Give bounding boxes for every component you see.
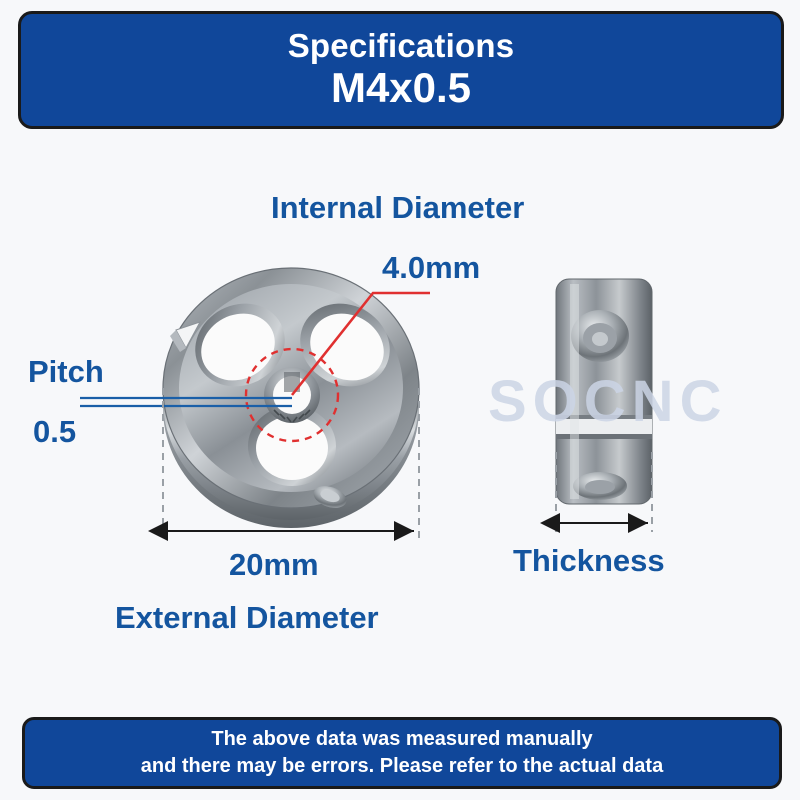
external-diameter-value: 20mm <box>229 547 319 583</box>
disclaimer-banner: The above data was measured manually and… <box>22 717 782 789</box>
disclaimer-line-2: and there may be errors. Please refer to… <box>141 753 663 780</box>
internal-diameter-value: 4.0mm <box>382 250 480 286</box>
disclaimer-line-1: The above data was measured manually <box>211 726 592 753</box>
external-diameter-label: External Diameter <box>115 600 379 636</box>
brand-watermark: SOCNC <box>488 368 727 435</box>
internal-diameter-label: Internal Diameter <box>271 190 524 226</box>
thickness-label: Thickness <box>513 543 665 579</box>
pitch-label: Pitch <box>28 354 104 390</box>
pitch-value: 0.5 <box>33 414 76 450</box>
